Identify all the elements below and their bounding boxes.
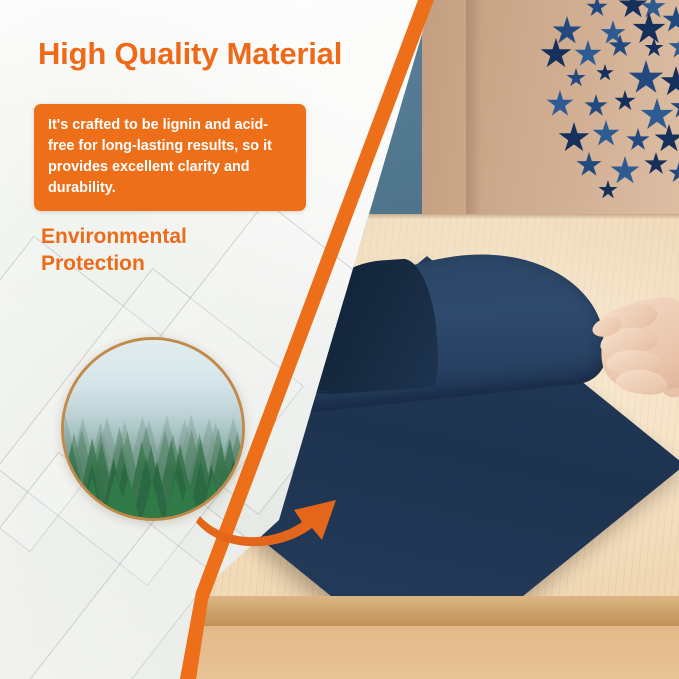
- product-infographic: High Quality Material It's crafted to be…: [0, 0, 679, 679]
- paper-star: [632, 12, 666, 46]
- paper-star: [586, 0, 608, 18]
- paper-star: [660, 66, 679, 98]
- paper-star: [618, 0, 648, 20]
- paper-star: [584, 94, 608, 118]
- paper-star: [558, 122, 590, 154]
- page-title: High Quality Material: [38, 36, 342, 72]
- paper-star: [662, 6, 679, 34]
- paper-star: [574, 40, 602, 68]
- paper-star: [546, 90, 574, 118]
- paper-star: [592, 120, 620, 148]
- paper-star: [628, 60, 664, 96]
- paper-star: [668, 34, 679, 60]
- paper-star: [596, 64, 614, 82]
- paper-star: [540, 38, 572, 70]
- paper-star: [614, 90, 636, 112]
- paper-star: [644, 38, 664, 58]
- paper-star-decoration: [540, 0, 679, 209]
- curved-arrow-icon: [196, 482, 346, 552]
- callout-text: It's crafted to be lignin and acid-free …: [48, 115, 292, 199]
- paper-star: [610, 156, 640, 186]
- paper-star: [644, 152, 668, 176]
- paper-star: [668, 162, 679, 184]
- paper-star: [670, 94, 679, 120]
- paper-star: [566, 68, 586, 88]
- paper-star: [626, 128, 650, 152]
- paper-star: [576, 152, 602, 178]
- section-subheading: Environmental Protection: [41, 224, 187, 278]
- paper-star: [598, 180, 618, 200]
- callout-box: It's crafted to be lignin and acid-free …: [34, 104, 306, 211]
